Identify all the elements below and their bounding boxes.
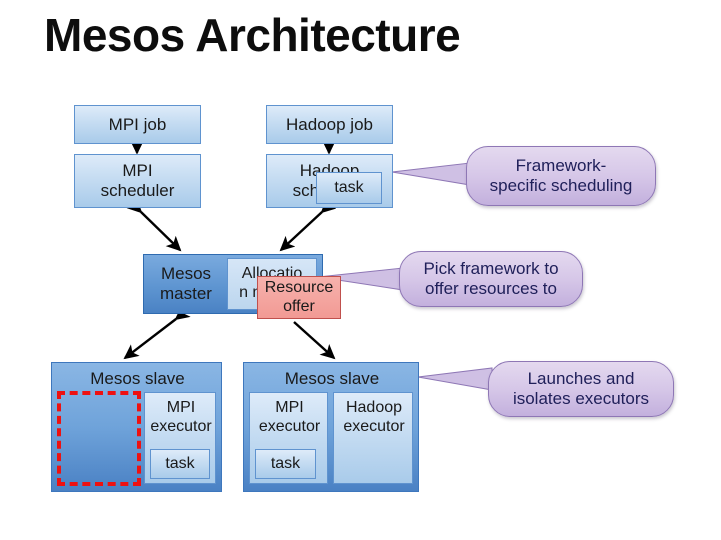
callout-1-line1: Framework-	[506, 156, 617, 176]
hadoop-scheduler-task-box[interactable]: task	[316, 172, 382, 204]
resource-offer-box[interactable]: Resource offer	[257, 276, 341, 319]
slide-canvas: Mesos Architecture MPI job MPI scheduler	[0, 0, 721, 540]
resource-offer-label-line1: Resource	[265, 279, 333, 298]
mpi-scheduler-box[interactable]: MPI scheduler	[74, 154, 201, 208]
callout-3-line1: Launches and	[518, 369, 645, 389]
page-title: Mesos Architecture	[44, 8, 460, 62]
callout-3-line2: isolates executors	[503, 389, 659, 409]
mpi-executor-right-label-line1: MPI	[250, 399, 329, 418]
mesos-slave-right-hadoop-executor-box[interactable]: Hadoop executor	[333, 392, 413, 484]
mpi-executor-left-label-line1: MPI	[145, 399, 217, 418]
callout-launches-isolates-executors[interactable]: Launches and isolates executors	[488, 361, 674, 417]
callout-pick-framework[interactable]: Pick framework to offer resources to	[399, 251, 583, 307]
callout-2-line2: offer resources to	[415, 279, 567, 299]
slave-left-free-resources-highlight	[57, 391, 141, 486]
mpi-job-box[interactable]: MPI job	[74, 105, 201, 144]
callout-framework-specific-scheduling[interactable]: Framework- specific scheduling	[466, 146, 656, 206]
hadoop-executor-right-label-line1: Hadoop	[334, 399, 414, 418]
hadoop-job-label: Hadoop job	[286, 115, 373, 135]
mpi-executor-left-label-line2: executor	[145, 418, 217, 437]
mpi-task-left-label: task	[165, 455, 194, 474]
mpi-job-label: MPI job	[109, 115, 167, 135]
resource-offer-label-line2: offer	[283, 298, 315, 317]
mesos-master-label-line2: master	[160, 284, 212, 304]
mpi-task-right-label: task	[271, 455, 300, 474]
mesos-slave-right-mpi-task-box[interactable]: task	[255, 449, 316, 479]
mesos-master-label-line1: Mesos	[161, 264, 211, 284]
mpi-executor-right-label-line2: executor	[250, 418, 329, 437]
mesos-slave-left-label: Mesos slave	[52, 369, 223, 389]
callout-2-line1: Pick framework to	[413, 259, 568, 279]
hadoop-job-box[interactable]: Hadoop job	[266, 105, 393, 144]
mesos-slave-left-mpi-task-box[interactable]: task	[150, 449, 210, 479]
mpi-scheduler-label-line1: MPI	[122, 161, 152, 181]
hadoop-scheduler-task-label: task	[334, 179, 363, 198]
mpi-scheduler-label-line2: scheduler	[101, 181, 175, 201]
mesos-slave-right-label: Mesos slave	[244, 369, 420, 389]
hadoop-executor-right-label-line2: executor	[334, 418, 414, 437]
callout-1-line2: specific scheduling	[480, 176, 643, 196]
